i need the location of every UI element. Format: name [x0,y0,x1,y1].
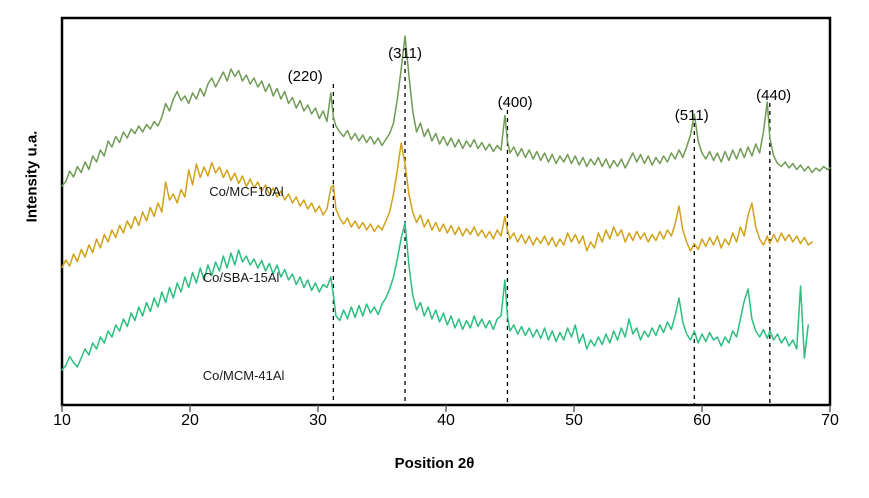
x-tick-label-70: 70 [810,412,850,430]
x-tick-label-60: 60 [682,412,722,430]
x-tick-label-40: 40 [426,412,466,430]
series-label-co-mcm-41al: Co/MCM-41Al [203,368,285,383]
xrd-chart-figure: Intensity u.a. Position 2θ 1020304050607… [0,0,869,498]
series-trace-co-sba-15al [62,143,812,268]
series-trace-co-mcm-41al [62,223,808,370]
peak-label-440: (440) [739,87,809,104]
x-tick-label-20: 20 [170,412,210,430]
peak-label-400: (400) [480,94,550,111]
peak-label-311: (311) [370,45,440,62]
plot-frame [62,18,830,405]
x-axis-title: Position 2θ [0,455,869,472]
series-label-co-mcf10al: Co/MCF10Al [209,184,283,199]
x-tick-label-50: 50 [554,412,594,430]
peak-label-220: (220) [270,68,340,85]
x-tick-label-10: 10 [42,412,82,430]
peak-label-511: (511) [657,107,727,124]
x-tick-label-30: 30 [298,412,338,430]
y-axis-title: Intensity u.a. [24,87,41,267]
series-label-co-sba-15al: Co/SBA-15Al [203,270,280,285]
